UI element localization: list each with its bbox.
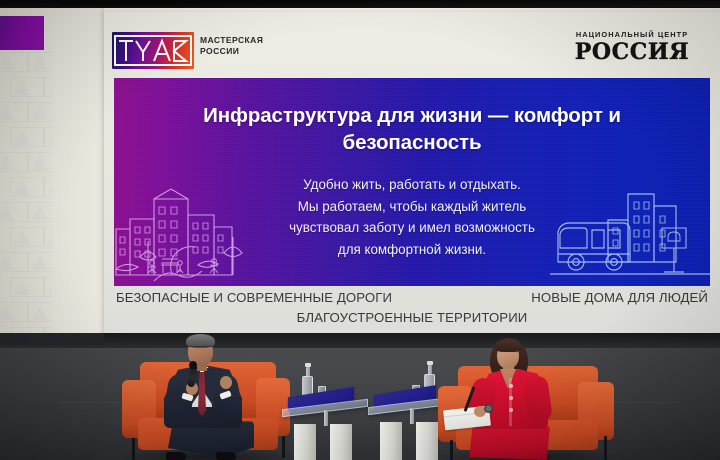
tula-masterskaya-logo [112, 32, 194, 69]
name-card-text [295, 400, 296, 405]
left-wall-plain-strip [52, 16, 104, 333]
man-hand-right [220, 376, 232, 389]
tula-logo-glyphs [112, 32, 194, 69]
slide-body-line-0: Удобно жить, работать и отдыхать. [174, 174, 650, 196]
bottle-cap [427, 361, 433, 365]
tula-logo-line2: РОССИИ [200, 46, 263, 57]
slide-body-line-3: для комфортной жизни. [174, 239, 650, 261]
table-leg [324, 410, 328, 426]
tula-logo-tile-pattern [0, 52, 58, 333]
watermark-tile [10, 227, 44, 247]
tula-logo-line1: МАСТЕРСКАЯ [200, 35, 263, 46]
table-leg [410, 408, 414, 424]
caption-roads: БЕЗОПАСНЫЕ И СОВРЕМЕННЫЕ ДОРОГИ [116, 290, 392, 305]
watermark-tile [0, 152, 28, 172]
woman-jacket-button [509, 384, 513, 388]
slide-title: Инфраструктура для жизни — комфорт и без… [154, 102, 670, 156]
board-header: МАСТЕРСКАЯ РОССИИ НАЦИОНАЛЬНЫЙ ЦЕНТР РОС… [104, 18, 720, 76]
watermark-tile [0, 52, 28, 72]
national-center-wordmark: РОССИЯ [562, 40, 702, 64]
caption-housing: НОВЫЕ ДОМА ДЛЯ ЛЮДЕЙ [531, 290, 708, 305]
slide-gradient-panel: Инфраструктура для жизни — комфорт и без… [114, 78, 710, 286]
woman-jacket-button [509, 408, 513, 412]
watermark-tile [10, 277, 44, 297]
caption-row-bottom: БЛАГОУСТРОЕННЫЕ ТЕРРИТОРИИ [104, 310, 720, 325]
table-base-right [330, 424, 352, 460]
presentation-board: МАСТЕРСКАЯ РОССИИ НАЦИОНАЛЬНЫЙ ЦЕНТР РОС… [104, 8, 720, 338]
woman-hair-front [495, 339, 522, 352]
stage-scene: МАСТЕРСКАЯ РОССИИ НАЦИОНАЛЬНЫЙ ЦЕНТР РОС… [0, 0, 720, 460]
watermark-tile [10, 77, 44, 97]
table-base-left [380, 422, 402, 460]
chair-leg [604, 436, 607, 460]
woman-jacket-button [509, 396, 513, 400]
chair-leg [132, 438, 135, 460]
national-center-logo: НАЦИОНАЛЬНЫЙ ЦЕНТР РОССИЯ [562, 30, 702, 64]
microphone-capsule [189, 361, 197, 369]
glass-side-table-left [288, 390, 368, 460]
national-center-subtitle: НАЦИОНАЛЬНЫЙ ЦЕНТР [562, 30, 702, 39]
watermark-tile [0, 252, 28, 272]
table-base-right [416, 422, 438, 460]
caption-territories: БЛАГОУСТРОЕННЫЕ ТЕРРИТОРИИ [297, 310, 528, 325]
man-shoe-left [166, 452, 186, 460]
chair-leg [450, 440, 453, 460]
bottle-neck [306, 367, 310, 377]
slide-body-line-1: Мы работаем, чтобы каждый житель [174, 196, 650, 218]
caption-block: БЕЗОПАСНЫЕ И СОВРЕМЕННЫЕ ДОРОГИ НОВЫЕ ДО… [104, 290, 720, 334]
board-top-edge [104, 8, 720, 12]
caption-row-top: БЕЗОПАСНЫЕ И СОВРЕМЕННЫЕ ДОРОГИ НОВЫЕ ДО… [104, 290, 720, 305]
watermark-tile [0, 102, 28, 122]
bottle-cap [305, 363, 311, 367]
male-speaker [150, 334, 290, 460]
back-wall-left [0, 333, 104, 345]
man-shoe-right [216, 452, 236, 460]
man-necktie [198, 372, 206, 416]
slide-body-text: Удобно жить, работать и отдыхать.Мы рабо… [174, 174, 650, 260]
watermark-tile [0, 302, 28, 322]
left-wall-panel [0, 8, 104, 333]
woman-lap-skirt [466, 424, 550, 460]
bottle-neck [428, 365, 432, 375]
man-eyeglasses [189, 346, 212, 351]
female-moderator [462, 336, 592, 460]
watermark-tile [10, 127, 44, 147]
purple-accent-block [0, 16, 44, 50]
wristwatch [484, 404, 493, 413]
slide-body-line-2: чувствовал заботу и имел возможность [174, 217, 650, 239]
table-base-left [294, 424, 316, 460]
watermark-tile [10, 177, 44, 197]
tula-logo-wordmark-text: МАСТЕРСКАЯ РОССИИ [200, 35, 263, 57]
watermark-tile [0, 202, 28, 222]
name-card-text [381, 398, 382, 403]
